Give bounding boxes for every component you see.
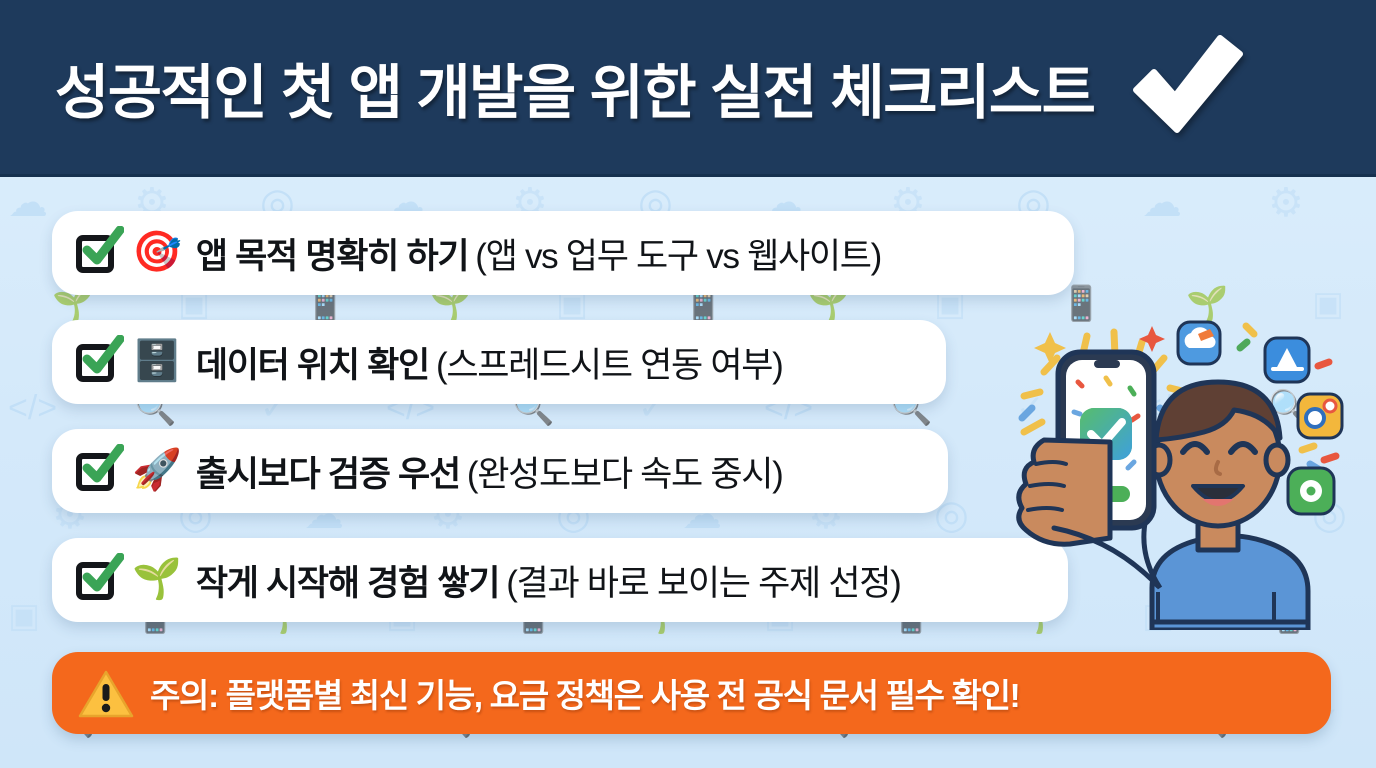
app-store-icon: ▣ — [8, 599, 40, 633]
checklist-item-title: 작게 시작해 경험 쌓기 — [196, 564, 499, 603]
phone-icon: 📱 — [1268, 599, 1310, 633]
checklist-item-detail: (앱 vs 업무 도구 vs 웹사이트) — [475, 237, 881, 276]
checklist-item-detail: (스프레드시트 연동 여부) — [436, 346, 783, 385]
checked-checkbox-icon[interactable] — [74, 339, 120, 385]
target-icon: ◎ — [1312, 495, 1347, 535]
app-store-icon: ▣ — [1142, 599, 1174, 633]
target-icon: 🎯 — [132, 232, 182, 272]
warning-triangle-icon — [78, 669, 134, 719]
checked-checkbox-icon[interactable] — [74, 557, 120, 603]
app-store-icon — [1265, 338, 1309, 382]
checklist-item-title: 앱 목적 명확히 하기 — [196, 237, 468, 276]
rocket-icon: 🚀 — [132, 450, 182, 490]
check-icon — [1124, 28, 1248, 140]
seedling-icon: 🌱 — [1186, 287, 1228, 321]
checklist-item-detail: (결과 바로 보이는 주제 선정) — [506, 564, 900, 603]
gear-green-app-icon — [1288, 468, 1334, 514]
checklist-item[interactable]: 🎯앱 목적 명확히 하기(앱 vs 업무 도구 vs 웹사이트) — [52, 211, 1074, 295]
warning-text: 주의: 플랫폼별 최신 기능, 요금 정책은 사용 전 공식 문서 필수 확인! — [150, 669, 1019, 717]
checklist-item[interactable]: 🚀출시보다 검증 우선(완성도보다 속도 중시) — [52, 429, 948, 513]
infographic-canvas: ☁⚙◎☁⚙◎☁⚙◎☁⚙🌱▣📱🌱▣📱🌱▣📱🌱▣</>🔍✓</>🔍✓</>🔍✓</>… — [0, 0, 1376, 768]
checklist-item-detail: (완성도보다 속도 중시) — [467, 455, 783, 494]
warning-banner: 주의: 플랫폼별 최신 기능, 요금 정책은 사용 전 공식 문서 필수 확인! — [52, 652, 1331, 734]
checked-checkbox-icon[interactable] — [74, 230, 120, 276]
gear-icon: ⚙ — [1268, 183, 1304, 223]
page-title: 성공적인 첫 앱 개발을 위한 실전 체크리스트 — [55, 45, 1094, 130]
cloud-app-icon — [1178, 322, 1220, 364]
checklist-item-text: 출시보다 검증 우선(완성도보다 속도 중시) — [196, 446, 783, 497]
app-store-icon: ▣ — [1312, 287, 1344, 321]
cloud-icon: ☁ — [1142, 183, 1182, 223]
checklist-item-title: 출시보다 검증 우선 — [196, 455, 460, 494]
gear-orange-app-icon — [1298, 394, 1342, 438]
code-icon: </> — [8, 391, 57, 425]
code-icon: </> — [1142, 391, 1191, 425]
seedling-in-hand-icon: 🌱 — [132, 559, 182, 599]
checklist-item[interactable]: 🗄️데이터 위치 확인(스프레드시트 연동 여부) — [52, 320, 946, 404]
checked-checkbox-icon[interactable] — [74, 448, 120, 494]
cloud-icon: ☁ — [8, 183, 48, 223]
checklist-item[interactable]: 🌱작게 시작해 경험 쌓기(결과 바로 보이는 주제 선정) — [52, 538, 1068, 622]
header-bar: 성공적인 첫 앱 개발을 위한 실전 체크리스트 — [0, 0, 1376, 177]
checklist-item-text: 작게 시작해 경험 쌓기(결과 바로 보이는 주제 선정) — [196, 555, 901, 606]
gear-icon: ⚙ — [1186, 495, 1222, 535]
checklist-item-text: 앱 목적 명확히 하기(앱 vs 업무 도구 vs 웹사이트) — [196, 228, 881, 279]
checklist-item-text: 데이터 위치 확인(스프레드시트 연동 여부) — [196, 337, 783, 388]
database-search-icon: 🗄️ — [132, 341, 182, 381]
magnifier-icon: 🔍 — [1268, 391, 1310, 425]
checklist-item-title: 데이터 위치 확인 — [196, 346, 429, 385]
checklist: 🎯앱 목적 명확히 하기(앱 vs 업무 도구 vs 웹사이트)🗄️데이터 위치… — [52, 211, 1074, 647]
